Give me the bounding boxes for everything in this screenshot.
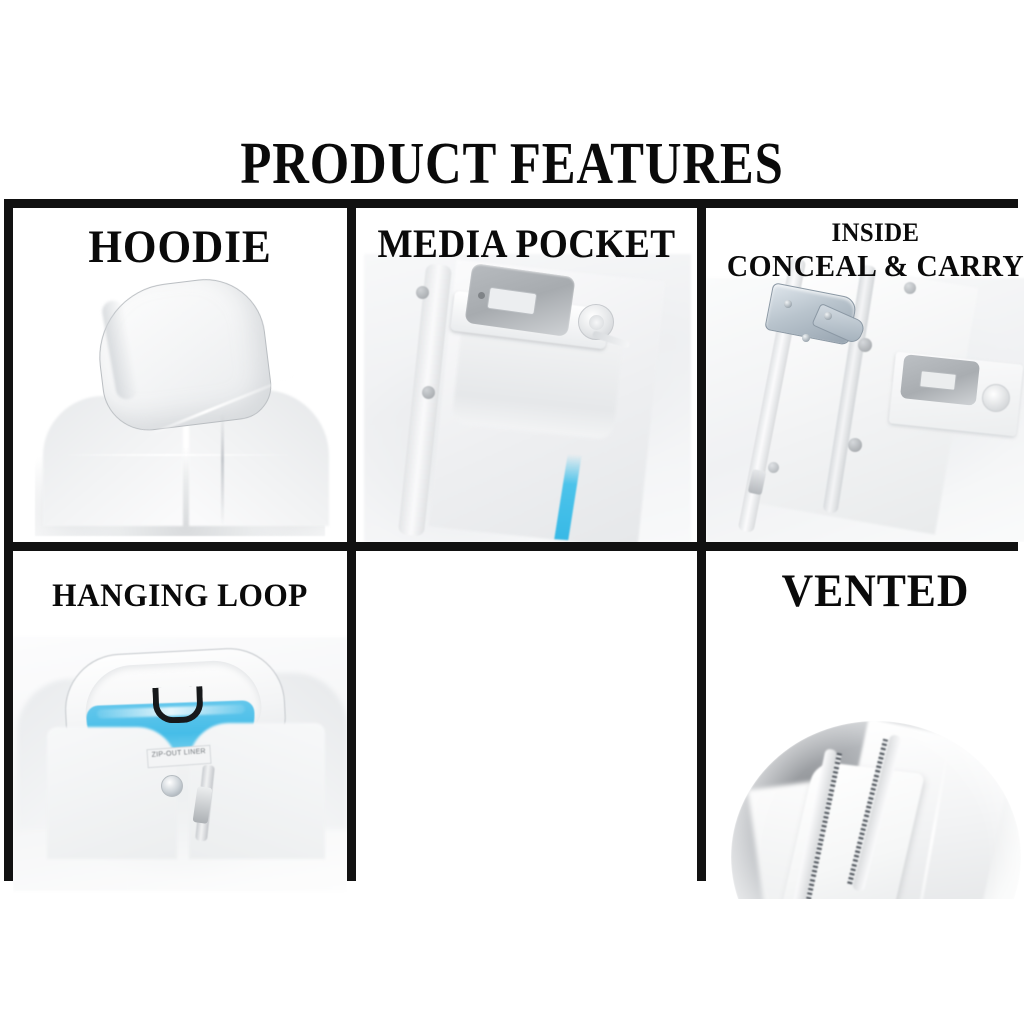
vented-vignette-shape bbox=[731, 721, 1021, 899]
cord-grommet-icon bbox=[982, 384, 1010, 412]
rivet-icon bbox=[784, 300, 792, 308]
media-pocket-photo bbox=[356, 208, 697, 542]
hanging-loop-photo: ZIP-OUT LINER bbox=[13, 551, 347, 899]
hoodie-photo bbox=[13, 208, 347, 542]
feature-cell-conceal-carry[interactable]: INSIDE CONCEAL & CARRY bbox=[706, 208, 1024, 542]
media-device-screen-shape bbox=[919, 370, 957, 391]
vented-photo bbox=[706, 551, 1024, 899]
feature-cell-media-pocket[interactable]: MEDIA POCKET bbox=[356, 208, 697, 542]
page-title: PRODUCT FEATURES bbox=[72, 132, 953, 194]
snap-icon bbox=[848, 438, 862, 452]
hoodie-seam-highlight bbox=[221, 414, 224, 526]
feature-cell-hoodie[interactable]: HOODIE bbox=[13, 208, 347, 542]
snap-icon bbox=[422, 386, 435, 399]
conceal-carry-photo bbox=[706, 208, 1024, 542]
snap-icon bbox=[858, 338, 872, 352]
rivet-icon bbox=[802, 334, 810, 342]
feature-cell-empty bbox=[356, 551, 697, 899]
media-device-button-icon bbox=[478, 292, 485, 299]
feature-cell-hanging-loop[interactable]: ZIP-OUT LINER HANGING LOOP bbox=[13, 551, 347, 899]
product-features-infographic: PRODUCT FEATURES HOODIE bbox=[0, 0, 1024, 1024]
hoodie-seam-highlight bbox=[59, 454, 299, 456]
feature-cell-vented[interactable]: VENTED bbox=[706, 551, 1024, 899]
features-grid: HOODIE MEDIA POCKET bbox=[4, 199, 1018, 881]
rivet-icon bbox=[824, 312, 832, 320]
snap-icon bbox=[768, 462, 779, 473]
snap-icon bbox=[161, 775, 183, 797]
snap-icon bbox=[416, 286, 429, 299]
snap-icon bbox=[904, 282, 916, 294]
liner-care-label-text: ZIP-OUT LINER bbox=[148, 748, 210, 759]
collar-front-left-shape bbox=[47, 727, 177, 859]
